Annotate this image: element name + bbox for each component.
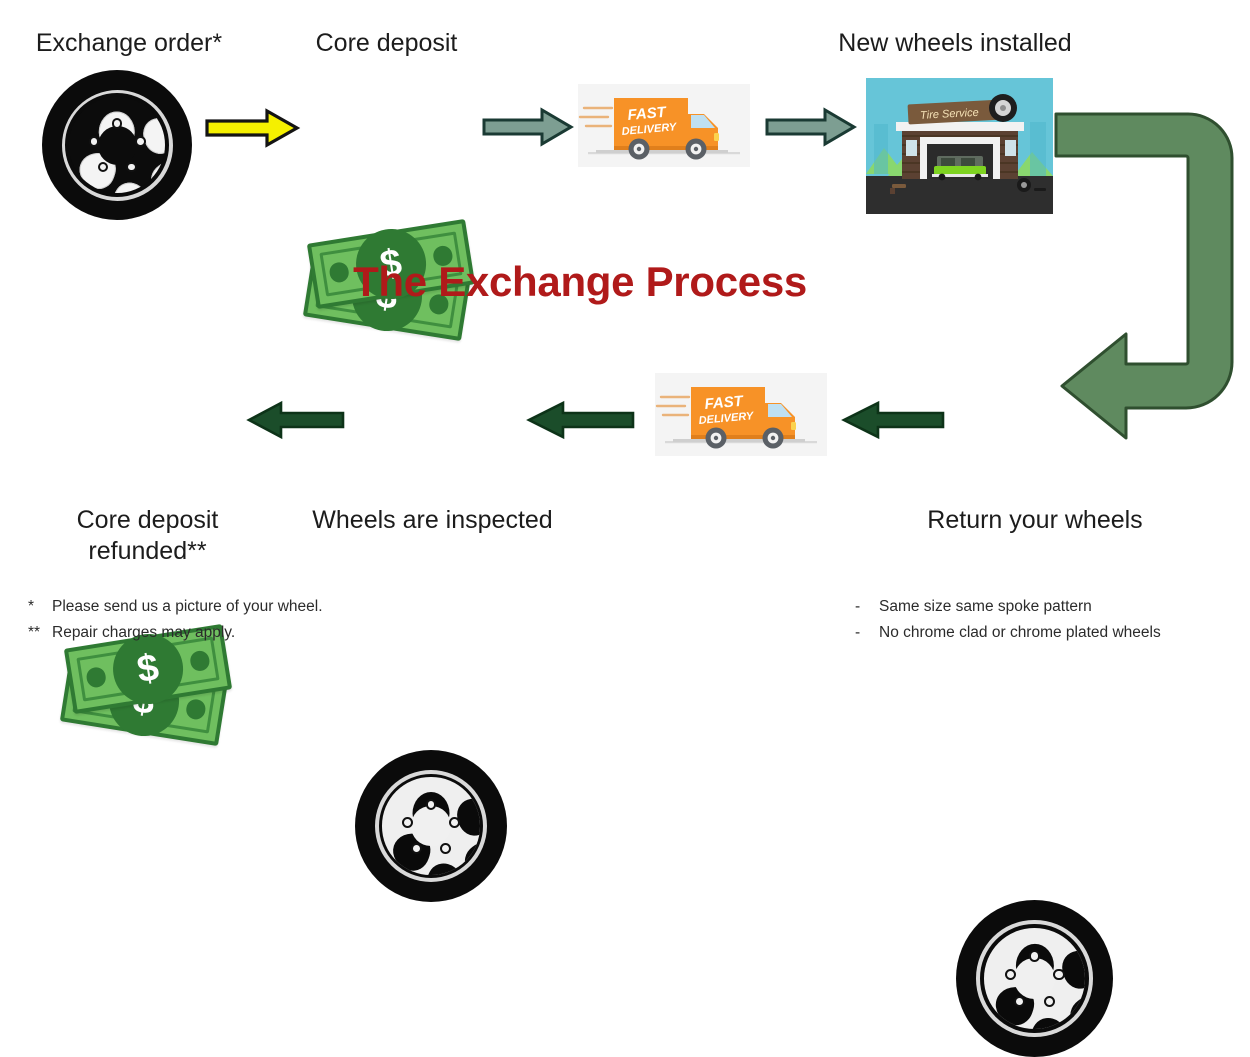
arrow-order-to-deposit	[205, 108, 300, 148]
footnotes-left: * Please send us a picture of your wheel…	[28, 594, 498, 645]
wheel-icon-return	[956, 900, 1113, 1057]
footnotes-right: - Same size same spoke pattern - No chro…	[855, 594, 1250, 645]
delivery-truck-icon-return: FAST DELIVERY	[655, 373, 827, 456]
footnote-right-2: - No chrome clad or chrome plated wheels	[855, 620, 1250, 646]
arrow-truck-to-shop	[765, 108, 857, 146]
footnote-left-2-mark: **	[28, 620, 52, 646]
footnote-left-1: * Please send us a picture of your wheel…	[28, 594, 498, 620]
delivery-truck-icon-outbound: FAST DELIVERY	[578, 84, 750, 167]
wheel-hub	[98, 126, 137, 165]
footnote-right-1: - Same size same spoke pattern	[855, 594, 1250, 620]
footnote-right-1-text: Same size same spoke pattern	[879, 594, 1092, 620]
footnote-left-1-text: Please send us a picture of your wheel.	[52, 594, 323, 620]
svg-text:FAST: FAST	[704, 393, 746, 413]
arrow-truck-to-inspected	[525, 400, 635, 440]
svg-text:FAST: FAST	[627, 104, 669, 124]
step-label-return-your-wheels: Return your wheels	[890, 505, 1180, 536]
footnote-left-2-text: Repair charges may apply.	[52, 620, 235, 646]
arrow-deposit-to-truck	[482, 108, 574, 146]
footnote-left-1-mark: *	[28, 594, 52, 620]
arrow-inspected-to-refund	[245, 400, 345, 440]
refund-label-line2: refunded**	[88, 537, 206, 565]
page-title: The Exchange Process	[0, 258, 1160, 306]
footnote-right-2-text: No chrome clad or chrome plated wheels	[879, 620, 1161, 646]
step-label-core-deposit: Core deposit	[283, 28, 490, 59]
wheel-icon	[42, 70, 192, 220]
money-icon-refund: $ $	[62, 630, 234, 755]
step-label-exchange-order: Exchange order*	[0, 28, 258, 59]
step-label-wheels-are-inspected: Wheels are inspected	[285, 505, 580, 536]
tire-service-shop-icon: Tire Service	[866, 78, 1053, 214]
footnote-right-1-mark: -	[855, 594, 879, 620]
footnote-right-2-mark: -	[855, 620, 879, 646]
exchange-process-diagram: Exchange order* Core deposit New wheels …	[0, 0, 1250, 666]
refund-label-line1: Core deposit	[77, 506, 219, 534]
step-label-core-deposit-refunded: Core deposit refunded**	[40, 505, 255, 566]
footnote-left-2: ** Repair charges may apply.	[28, 620, 498, 646]
step-label-new-wheels-installed: New wheels installed	[800, 28, 1110, 59]
wheel-icon-inspected	[355, 750, 507, 902]
arrow-return-to-truck	[840, 400, 945, 440]
